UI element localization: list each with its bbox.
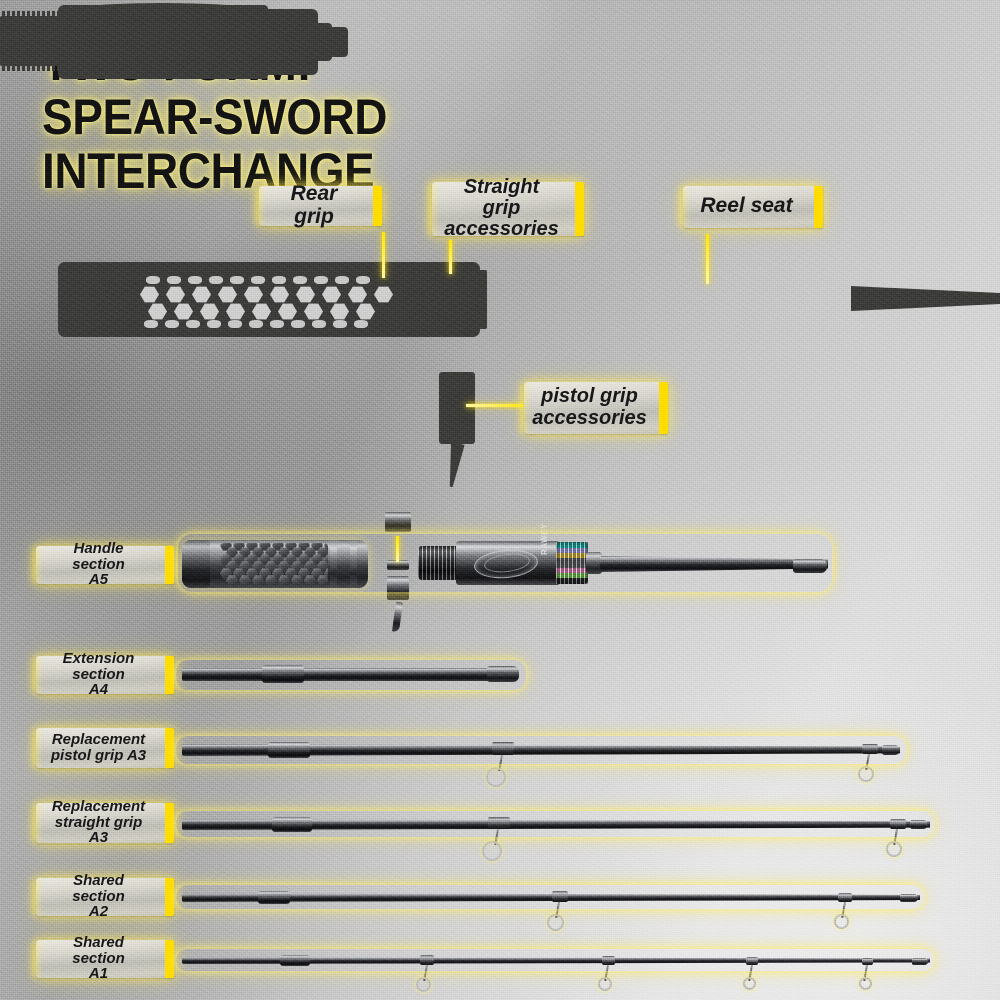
leader-line-rear-grip: [382, 232, 385, 278]
section-label-a4-line-1: Extension section: [48, 651, 149, 683]
reel-seat-silhouette: [0, 0, 355, 82]
section-label-a2[interactable]: Shared section A2: [36, 878, 174, 916]
section-label-a5-line-1: Handle section: [48, 541, 149, 573]
reel-seat-thread: [0, 16, 62, 66]
honeycomb-row: [140, 286, 393, 303]
accessory-washer: [385, 512, 411, 532]
section-label-a2-line-1: Shared section: [48, 873, 149, 905]
callout-reel-seat-label: Reel seat: [700, 195, 792, 217]
reel-seat-hood: [258, 9, 318, 75]
callout-straight-grip[interactable]: Straight grip accessories: [432, 182, 584, 236]
section-label-a3-pistol-line-2: pistol grip A3: [51, 748, 146, 764]
callout-pistol-grip-line-2: accessories: [532, 408, 647, 429]
section-label-a3-straight-line-2: straight grip A3: [48, 815, 149, 847]
leader-line-reel-seat: [706, 234, 709, 284]
section-label-a4-line-2: A4: [89, 682, 108, 698]
section-label-a1-line-2: A1: [89, 966, 108, 982]
accessory-spur: [392, 602, 403, 633]
section-label-a1-line-1: Shared section: [48, 935, 149, 967]
a5-glow: [178, 534, 832, 592]
a3-pistol-glow: [176, 736, 906, 764]
a1-glow: [176, 949, 934, 971]
straight-grip-accessory-silhouette: [437, 272, 461, 332]
callout-straight-grip-line-2: accessories: [444, 219, 559, 240]
leader-line-straight-grip: [449, 240, 452, 274]
section-label-a5[interactable]: Handle section A5: [36, 546, 174, 584]
section-label-a4[interactable]: Extension section A4: [36, 656, 174, 694]
pistol-grip-accessory-silhouette: [439, 372, 475, 444]
honeycomb-row: [148, 303, 375, 320]
honeycomb-row: [144, 320, 368, 328]
rear-grip-endcap: [475, 270, 487, 329]
callout-reel-seat[interactable]: Reel seat: [683, 186, 823, 228]
pistol-grip-spur: [442, 442, 465, 488]
section-label-a3-pistol[interactable]: Replacement pistol grip A3: [36, 728, 174, 768]
callout-pistol-grip-line-1: pistol grip: [541, 386, 638, 407]
rear-grip-silhouette: [58, 262, 480, 337]
callout-rear-grip[interactable]: Rear grip: [259, 186, 382, 226]
reel-seat-ring: [328, 27, 348, 57]
reel-seat-body: [58, 5, 268, 79]
honeycomb-row: [146, 276, 370, 284]
section-label-a1[interactable]: Shared section A1: [36, 940, 174, 978]
section-label-a3-straight-line-1: Replacement: [52, 799, 145, 815]
infographic-canvas: TWO-FORM: SPEAR-SWORD INTERCHANGE: [0, 0, 1000, 1000]
callout-rear-grip-label: Rear grip: [271, 183, 357, 228]
section-label-a3-straight[interactable]: Replacement straight grip A3: [36, 803, 174, 843]
a3-straight-glow: [176, 811, 934, 837]
rod-blank-silhouette: [851, 286, 1000, 311]
section-label-a5-line-2: A5: [89, 572, 108, 588]
a4-glow: [176, 660, 526, 690]
a2-glow: [176, 885, 924, 909]
callout-straight-grip-line-1: Straight grip: [444, 177, 559, 219]
section-label-a2-line-2: A2: [89, 904, 108, 920]
section-label-a3-pistol-line-1: Replacement: [52, 732, 145, 748]
title-line-2: SPEAR-SWORD INTERCHANGE: [42, 90, 686, 198]
callout-pistol-grip[interactable]: pistol grip accessories: [524, 382, 668, 434]
